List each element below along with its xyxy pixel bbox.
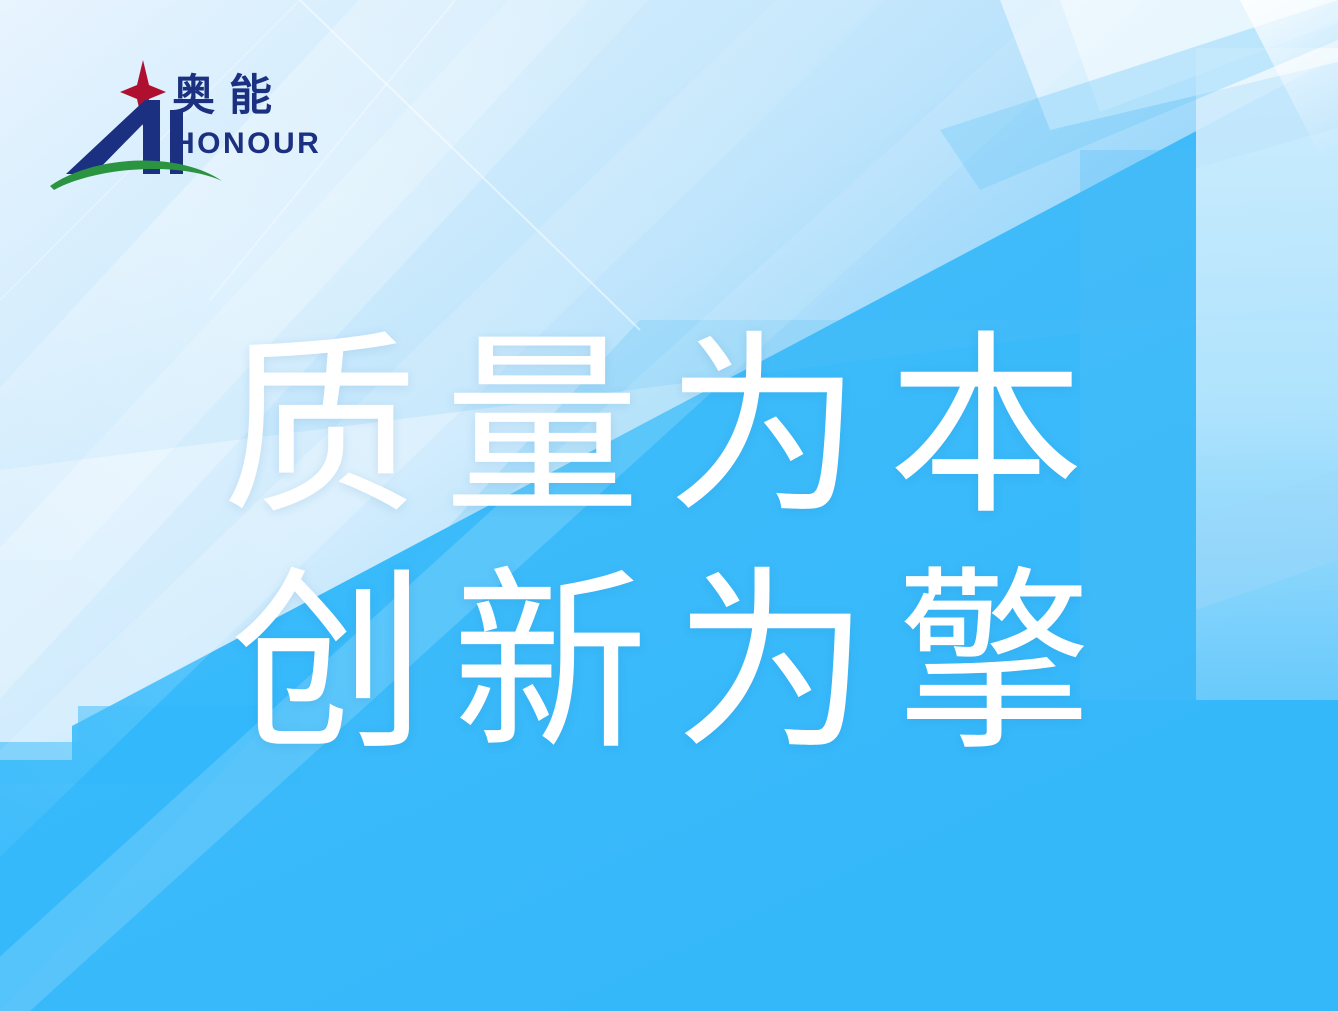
slogan-block: 质量为本 创新为擎 xyxy=(222,312,1132,780)
slogan-line-1: 质量为本 xyxy=(222,312,1132,544)
logo-english-name: HONOUR xyxy=(173,129,321,159)
company-logo: 奥能 HONOUR xyxy=(48,52,310,192)
brand-banner: 奥能 HONOUR 质量为本 创新为擎 xyxy=(0,0,1338,1011)
slogan-line-2: 创新为擎 xyxy=(222,548,1132,780)
logo-chinese-name: 奥能 xyxy=(172,75,286,118)
